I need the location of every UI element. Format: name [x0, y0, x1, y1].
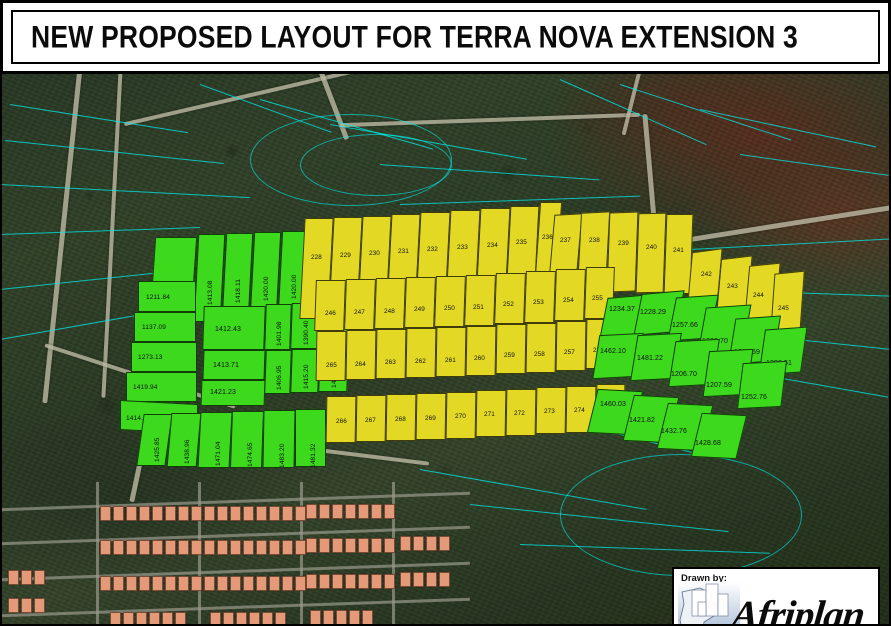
- township-house-row: [204, 506, 306, 521]
- contour-line: [300, 134, 452, 196]
- parcel-label: 239: [618, 240, 629, 247]
- parcel-label: 229: [340, 252, 351, 259]
- parcel-label: 231: [398, 248, 409, 255]
- parcel-label: 263: [385, 359, 396, 366]
- township-house: [262, 612, 273, 626]
- township-house: [178, 506, 189, 521]
- township-house: [295, 506, 306, 521]
- township-house: [345, 504, 356, 519]
- parcel-label: 1413.08: [207, 280, 214, 305]
- township-house: [275, 612, 286, 626]
- parcel-label: 1257.66: [672, 322, 698, 329]
- township-house-row: [306, 504, 395, 519]
- parcel-label: 1412.43: [215, 326, 241, 333]
- township-house: [243, 506, 254, 521]
- parcel-label: 269: [425, 415, 436, 422]
- parcel-label: 1206.70: [671, 371, 697, 378]
- parcel-yellow[interactable]: [556, 321, 587, 371]
- township-house: [217, 540, 228, 555]
- parcel-label: 274: [574, 407, 585, 414]
- township-house: [152, 506, 163, 521]
- township-house: [21, 570, 32, 585]
- parcel-yellow[interactable]: [526, 323, 557, 373]
- township-house: [336, 610, 347, 625]
- township-house: [384, 574, 395, 589]
- parcel-label: 260: [474, 355, 485, 362]
- parcel-label: 251: [473, 304, 484, 311]
- parcel-label: 1471.04: [215, 441, 222, 466]
- parcel-label: 1419.94: [133, 384, 158, 391]
- township-house: [236, 612, 247, 626]
- title-bar: NEW PROPOSED LAYOUT FOR TERRA NOVA EXTEN…: [0, 0, 891, 74]
- parcel-label: 1462.10: [600, 348, 626, 355]
- afriplan-brand-text: Afriplan: [730, 591, 867, 626]
- parcel-yellow[interactable]: [636, 213, 667, 293]
- township-house-row: [204, 540, 306, 555]
- township-house: [282, 540, 293, 555]
- township-house: [310, 610, 321, 625]
- parcel-label: 234: [487, 242, 498, 249]
- parcel-label: 232: [427, 246, 438, 253]
- township-house: [358, 574, 369, 589]
- township-house: [100, 576, 111, 591]
- township-house: [204, 576, 215, 591]
- parcel-label: 255: [592, 295, 603, 302]
- township-house: [306, 574, 317, 589]
- township-house-row: [110, 612, 186, 626]
- parcel-yellow[interactable]: [494, 273, 526, 324]
- township-house: [282, 506, 293, 521]
- parcel-yellow[interactable]: [464, 275, 496, 326]
- parcel-yellow[interactable]: [376, 329, 407, 379]
- township-house: [269, 576, 280, 591]
- township-house: [426, 572, 437, 587]
- township-house: [256, 540, 267, 555]
- township-house: [123, 612, 134, 626]
- parcel-label: 254: [563, 297, 574, 304]
- parcel-label: 1460.03: [600, 401, 626, 408]
- parcel-label: 264: [355, 361, 366, 368]
- township-house-row: [310, 610, 373, 625]
- parcel-label: 1425.85: [154, 437, 161, 462]
- township-house: [100, 540, 111, 555]
- township-house: [162, 612, 173, 626]
- township-house: [110, 612, 121, 626]
- parcel-yellow[interactable]: [374, 278, 406, 329]
- parcel-yellow[interactable]: [314, 280, 346, 331]
- township-house: [413, 536, 424, 551]
- township-house: [358, 538, 369, 553]
- parcel-label: 242: [701, 271, 712, 278]
- parcel-label: 1420.00: [263, 276, 270, 301]
- parcel-label: 1421.82: [629, 417, 655, 424]
- township-house: [152, 576, 163, 591]
- parcel-label: 1421.23: [210, 389, 236, 396]
- parcel-label: 241: [673, 247, 684, 254]
- parcel-green[interactable]: [737, 361, 787, 409]
- parcel-label: 235: [516, 239, 527, 246]
- parcel-yellow[interactable]: [524, 271, 556, 323]
- parcel-yellow[interactable]: [466, 326, 497, 376]
- township-house: [139, 540, 150, 555]
- township-house: [319, 574, 330, 589]
- township-house: [204, 506, 215, 521]
- township-house: [384, 538, 395, 553]
- township-house: [349, 610, 360, 625]
- township-house: [152, 540, 163, 555]
- township-house: [384, 504, 395, 519]
- parcel-label: 1211.84: [146, 294, 170, 301]
- parcel-yellow[interactable]: [434, 276, 466, 327]
- township-house: [165, 506, 176, 521]
- township-house: [210, 612, 221, 626]
- township-house: [345, 574, 356, 589]
- township-house: [178, 576, 189, 591]
- parcel-label: 259: [504, 352, 515, 359]
- parcel-label: 250: [444, 305, 455, 312]
- township-house: [439, 536, 450, 551]
- township-street: [96, 482, 99, 626]
- township-house: [126, 540, 137, 555]
- parcel-label: 252: [503, 301, 514, 308]
- parcel-label: 265: [326, 362, 337, 369]
- township-house: [439, 572, 450, 587]
- township-house: [100, 506, 111, 521]
- township-house: [165, 576, 176, 591]
- parcel-label: 238: [589, 237, 600, 244]
- township-house: [400, 536, 411, 551]
- parcel-label: 1406.95: [276, 365, 283, 390]
- township-house: [358, 504, 369, 519]
- parcel-yellow[interactable]: [404, 277, 436, 328]
- parcel-label: 266: [336, 418, 347, 425]
- township-house-row: [400, 536, 450, 551]
- parcel-label: 258: [534, 351, 545, 358]
- township-house-row: [100, 576, 202, 591]
- parcel-yellow[interactable]: [344, 279, 376, 330]
- parcel-label: 1438.96: [184, 439, 191, 464]
- township-house: [230, 576, 241, 591]
- township-house: [332, 574, 343, 589]
- township-house: [269, 540, 280, 555]
- parcel-label: 1432.76: [661, 428, 687, 435]
- township-house-row: [100, 540, 202, 555]
- parcel-label: 267: [365, 417, 376, 424]
- parcel-label: 1228.29: [640, 309, 666, 316]
- parcel-label: 246: [325, 310, 336, 317]
- parcel-label: 1401.98: [276, 321, 283, 346]
- parcel-label: 1481.22: [637, 355, 663, 362]
- township-house: [295, 540, 306, 555]
- township-house: [149, 612, 160, 626]
- township-house: [191, 506, 202, 521]
- township-house: [191, 576, 202, 591]
- page-title: NEW PROPOSED LAYOUT FOR TERRA NOVA EXTEN…: [13, 19, 798, 56]
- township-house: [230, 540, 241, 555]
- township-house-row: [8, 570, 45, 585]
- township-house: [282, 576, 293, 591]
- parcel-label: 1483.20: [279, 443, 286, 468]
- township-house: [249, 612, 260, 626]
- parcel-label: 1415.20: [303, 364, 310, 389]
- township-house: [136, 612, 147, 626]
- parcel-label: 1390.40: [303, 320, 310, 345]
- township-house: [34, 598, 45, 613]
- township-house: [178, 540, 189, 555]
- township-house: [139, 506, 150, 521]
- township-house: [126, 506, 137, 521]
- township-house: [8, 598, 19, 613]
- township-house: [204, 540, 215, 555]
- parcel-yellow[interactable]: [406, 328, 437, 378]
- parcel-yellow[interactable]: [496, 324, 527, 374]
- parcel-label: 1207.59: [706, 382, 732, 389]
- parcel-label: 248: [384, 308, 395, 315]
- township-house: [113, 506, 124, 521]
- parcel-label: 1481.32: [310, 443, 317, 468]
- township-house: [413, 572, 424, 587]
- township-house: [332, 538, 343, 553]
- township-house: [217, 576, 228, 591]
- township-house-row: [100, 506, 202, 521]
- township-house: [400, 572, 411, 587]
- township-house-row: [306, 538, 395, 553]
- parcel-label: 1273.13: [138, 354, 163, 361]
- township-house: [21, 598, 32, 613]
- township-house: [256, 506, 267, 521]
- township-house: [306, 504, 317, 519]
- township-house: [319, 504, 330, 519]
- township-house: [269, 506, 280, 521]
- township-house: [295, 576, 306, 591]
- parcel-label: 272: [514, 410, 525, 417]
- township-house: [371, 574, 382, 589]
- parcel-label: 273: [544, 408, 555, 415]
- township-house: [8, 570, 19, 585]
- township-house: [323, 610, 334, 625]
- township-house: [165, 540, 176, 555]
- township-house-row: [306, 574, 395, 589]
- aerial-photo-base: 1684.00 1413.08 1418.11 1420.00 1420.00 …: [0, 74, 891, 626]
- drawn-by-logo-box: Drawn by:: [672, 567, 880, 626]
- township-house: [319, 538, 330, 553]
- cottonfields-township: [0, 482, 470, 626]
- parcel-label: 257: [564, 349, 575, 356]
- township-house: [243, 576, 254, 591]
- township-house-row: [204, 576, 306, 591]
- parcel-label: 1137.09: [142, 324, 166, 331]
- township-house: [126, 576, 137, 591]
- parcel-label: 1474.65: [247, 442, 254, 467]
- township-house: [139, 576, 150, 591]
- township-house: [332, 504, 343, 519]
- parcel-label: 230: [369, 250, 380, 257]
- township-house: [191, 540, 202, 555]
- parcel-label: 1420.00: [291, 274, 298, 299]
- parcel-label: 228: [311, 254, 322, 261]
- township-house: [362, 610, 373, 625]
- parcel-label: 271: [484, 411, 495, 418]
- parcel-label: 244: [753, 292, 764, 299]
- parcel-label: 253: [533, 299, 544, 306]
- township-house: [345, 538, 356, 553]
- township-house: [256, 576, 267, 591]
- township-house: [426, 536, 437, 551]
- parcel-label: 240: [646, 244, 657, 251]
- parcel-label: 1252.76: [741, 394, 767, 401]
- parcel-yellow[interactable]: [316, 331, 347, 381]
- parcel-label: 245: [778, 305, 789, 312]
- parcel-label: 262: [415, 358, 426, 365]
- township-house: [306, 538, 317, 553]
- parcel-yellow[interactable]: [346, 330, 377, 380]
- township-house: [371, 538, 382, 553]
- parcel-label: 1234.37: [609, 306, 635, 313]
- township-house: [113, 540, 124, 555]
- parcel-label: 243: [727, 283, 738, 290]
- site-plan-page: NEW PROPOSED LAYOUT FOR TERRA NOVA EXTEN…: [0, 0, 891, 626]
- township-house: [113, 576, 124, 591]
- township-house: [371, 504, 382, 519]
- parcel-yellow[interactable]: [554, 269, 586, 321]
- township-house-row: [8, 598, 45, 613]
- title-bar-inner: NEW PROPOSED LAYOUT FOR TERRA NOVA EXTEN…: [11, 10, 880, 64]
- parcel-label: 1428.68: [695, 440, 721, 447]
- parcel-label: 1418.11: [235, 279, 242, 303]
- parcel-label: 261: [445, 357, 456, 364]
- parcel-label: 270: [455, 413, 466, 420]
- township-house: [223, 612, 234, 626]
- parcel-label: 237: [560, 237, 571, 244]
- township-house: [243, 540, 254, 555]
- parcel-yellow[interactable]: [436, 327, 467, 377]
- township-house: [34, 570, 45, 585]
- township-house: [230, 506, 241, 521]
- parcel-label: 233: [457, 244, 468, 251]
- contour-line: [560, 454, 802, 576]
- parcel-label: 268: [395, 416, 406, 423]
- township-house: [217, 506, 228, 521]
- township-house-row: [400, 572, 450, 587]
- township-house-row: [210, 612, 286, 626]
- parcel-label: 249: [414, 306, 425, 313]
- township-house: [175, 612, 186, 626]
- parcel-label: 1413.71: [213, 362, 239, 369]
- parcel-label: 247: [354, 309, 365, 316]
